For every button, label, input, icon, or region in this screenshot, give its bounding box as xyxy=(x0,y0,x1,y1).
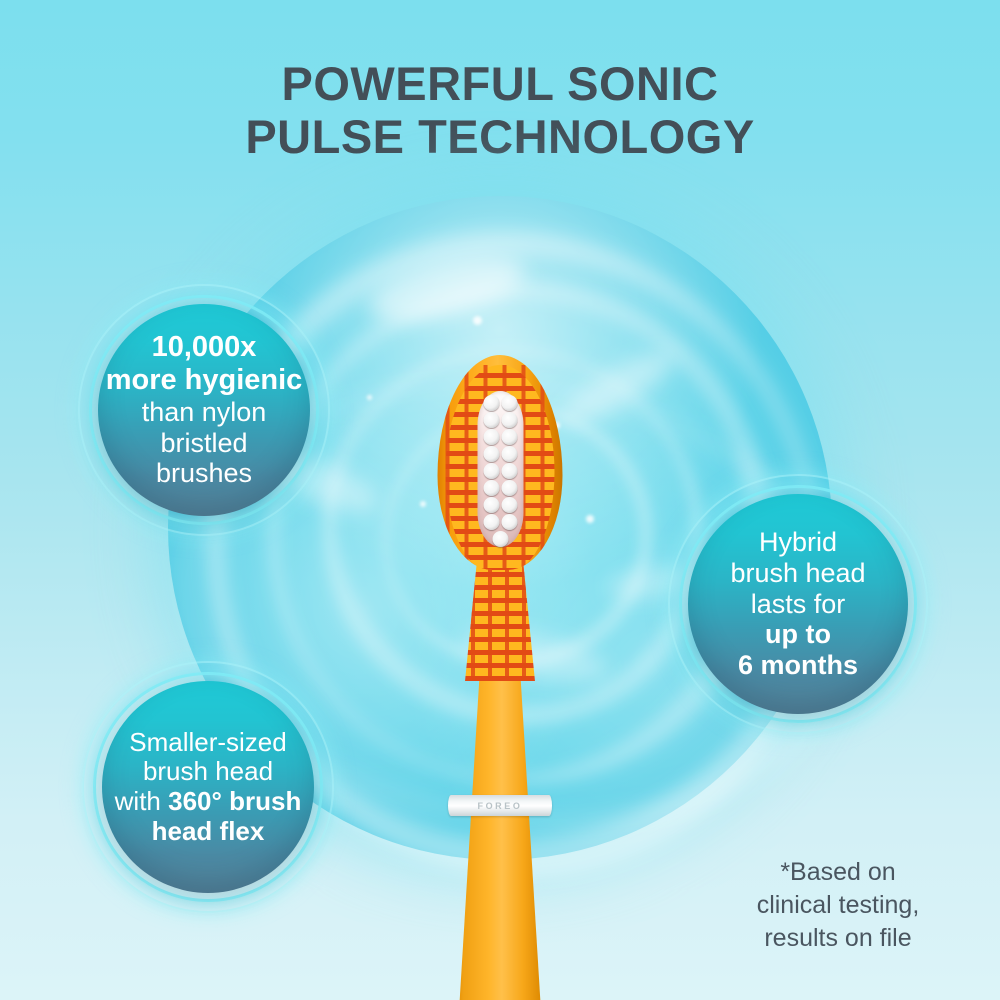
badge-flex-mixed-line: with 360° brush xyxy=(115,787,302,817)
nylon-tuft xyxy=(492,531,508,547)
water-droplet xyxy=(586,515,594,523)
nylon-tuft xyxy=(501,480,517,496)
brush-lower-bristles xyxy=(454,551,546,681)
badge-disc: Hybrid brush head lasts for up to 6 mont… xyxy=(688,494,908,714)
brush-head xyxy=(438,355,563,570)
footnote-disclaimer: *Based on clinical testing, results on f… xyxy=(718,856,958,955)
nylon-tuft xyxy=(501,497,517,513)
water-droplet xyxy=(473,316,482,325)
nylon-bristle-pad xyxy=(477,391,523,547)
brand-band: FOREO xyxy=(448,795,552,816)
page-title: POWERFUL SONIC PULSE TECHNOLOGY xyxy=(0,58,1000,163)
badge-hygienic[interactable]: 10,000x more hygienic than nylon bristle… xyxy=(78,284,330,536)
toothbrush-product-image: FOREO xyxy=(415,355,585,1000)
nylon-tuft xyxy=(483,514,499,530)
nylon-tuft xyxy=(483,412,499,428)
nylon-tuft xyxy=(483,446,499,462)
nylon-tuft xyxy=(483,497,499,513)
badge-disc: 10,000x more hygienic than nylon bristle… xyxy=(98,304,310,516)
badge-hygienic-text: 10,000x more hygienic than nylon bristle… xyxy=(94,331,315,489)
nylon-tuft xyxy=(501,446,517,462)
nylon-tuft xyxy=(501,463,517,479)
badge-disc: Smaller-sized brush head with 360° brush… xyxy=(102,681,314,893)
brush-handle xyxy=(452,655,548,1000)
nylon-tuft xyxy=(501,429,517,445)
brand-wordmark: FOREO xyxy=(477,801,522,811)
nylon-tuft xyxy=(483,480,499,496)
nylon-tuft xyxy=(501,395,517,411)
infographic-canvas: POWERFUL SONIC PULSE TECHNOLOGY xyxy=(0,0,1000,1000)
nylon-tuft xyxy=(483,429,499,445)
badge-flex-text: Smaller-sized brush head with 360° brush… xyxy=(103,728,314,847)
nylon-tuft xyxy=(501,514,517,530)
nylon-tuft xyxy=(501,412,517,428)
badge-flex[interactable]: Smaller-sized brush head with 360° brush… xyxy=(82,661,334,913)
nylon-tuft xyxy=(483,463,499,479)
nylon-tuft xyxy=(483,395,499,411)
badge-lifespan[interactable]: Hybrid brush head lasts for up to 6 mont… xyxy=(668,474,928,734)
badge-lifespan-text: Hybrid brush head lasts for up to 6 mont… xyxy=(718,527,877,681)
